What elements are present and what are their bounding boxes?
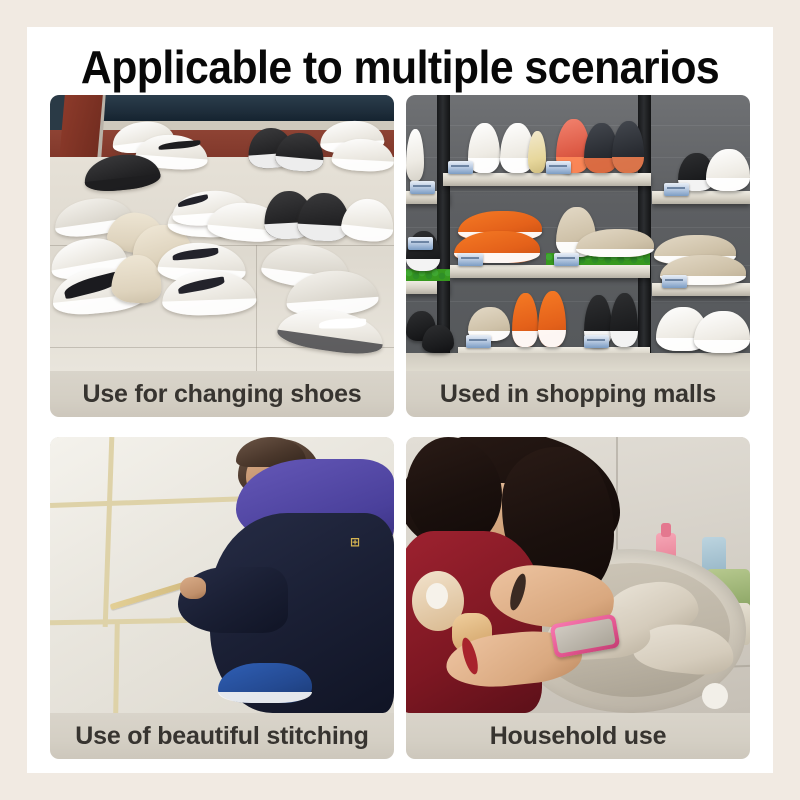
price-tag: [448, 161, 473, 174]
jacket-logo: ⊞: [350, 535, 360, 549]
scenario-panel-changing-shoes[interactable]: Use for changing shoes: [50, 95, 394, 417]
basin-handle: [702, 683, 728, 709]
price-tag: [410, 181, 435, 194]
price-tag: [664, 183, 689, 196]
photo-beautiful-stitching: ⊞: [50, 437, 394, 713]
display-shoe: [422, 325, 454, 353]
price-tag: [584, 335, 609, 348]
price-tag: [408, 237, 433, 250]
caption-bar-shopping-malls: Used in shopping malls: [406, 371, 750, 417]
price-tag: [546, 161, 571, 174]
shelf: [443, 173, 651, 186]
caption-text: Use for changing shoes: [83, 380, 362, 409]
display-shoe: [706, 149, 750, 191]
shirt-graphic: [426, 583, 448, 609]
price-tag: [662, 275, 687, 288]
price-tag: [466, 335, 491, 348]
price-tag: [554, 253, 579, 266]
poster-card: Applicable to multiple scenarios: [27, 27, 773, 773]
caption-text: Used in shopping malls: [440, 380, 716, 409]
photo-changing-shoes: [50, 95, 394, 371]
display-shoe: [528, 131, 546, 173]
scenario-panel-household-use[interactable]: Household use: [406, 437, 750, 759]
shelf-post: [437, 95, 450, 361]
store-floor: [406, 353, 750, 371]
display-shoe: [610, 293, 638, 347]
floor-seam: [256, 245, 257, 371]
photo-shopping-malls: [406, 95, 750, 371]
display-shoe: [512, 293, 538, 347]
shelf: [450, 265, 650, 278]
scenario-panel-beautiful-stitching[interactable]: ⊞ Use of beautiful stitching: [50, 437, 394, 759]
page-title: Applicable to multiple scenarios: [53, 41, 747, 93]
caption-bar-changing-shoes: Use for changing shoes: [50, 371, 394, 417]
display-shoe: [612, 121, 644, 173]
caption-bar-beautiful-stitching: Use of beautiful stitching: [50, 713, 394, 759]
caption-bar-household-use: Household use: [406, 713, 750, 759]
display-shoe: [538, 291, 566, 347]
scenario-panel-shopping-malls[interactable]: Used in shopping malls: [406, 95, 750, 417]
soap-bottle-pump: [661, 523, 671, 537]
worker-shoe: [218, 663, 312, 703]
display-shoe: [406, 129, 424, 181]
photo-household-use: [406, 437, 750, 713]
display-shoe: [576, 229, 654, 257]
caption-text: Use of beautiful stitching: [75, 722, 368, 751]
scenario-grid: Use for changing shoes: [50, 95, 750, 759]
worker-hand: [180, 577, 206, 599]
caption-text: Household use: [490, 722, 667, 751]
wall-blue-band: [98, 95, 394, 121]
price-tag: [458, 253, 483, 266]
